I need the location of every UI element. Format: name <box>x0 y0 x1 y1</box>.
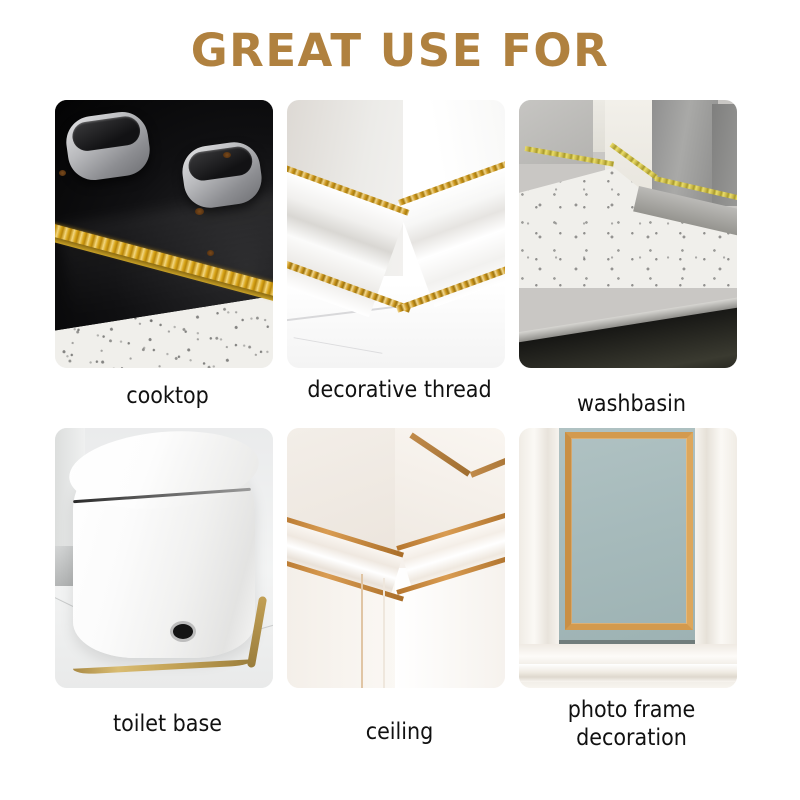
use-case-cell-decorative-thread[interactable]: decorative thread <box>287 100 512 418</box>
cooktop-photo <box>55 100 273 368</box>
spice-speck-1 <box>195 208 204 215</box>
use-case-cell-washbasin[interactable]: washbasin <box>519 100 744 418</box>
use-case-cell-toilet-base[interactable]: toilet base <box>55 428 280 752</box>
grid-row-1: cooktop decorative thread <box>55 100 745 418</box>
use-case-cell-cooktop[interactable]: cooktop <box>55 100 280 418</box>
grid-row-2: toilet base <box>55 428 745 752</box>
caption-toilet-base: toilet base <box>55 710 280 738</box>
photo-frame-photo <box>519 428 737 688</box>
frame-outer-right <box>695 428 737 664</box>
ceiling-photo <box>287 428 505 688</box>
spice-speck-3 <box>223 152 231 158</box>
spice-speck-2 <box>207 250 214 256</box>
caption-decorative-thread: decorative thread <box>287 376 512 404</box>
gold-inner-trim-highlight <box>571 438 687 624</box>
washbasin-photo <box>519 100 737 368</box>
frame-sill <box>519 664 737 682</box>
use-case-cell-ceiling[interactable]: ceiling <box>287 428 512 752</box>
use-case-grid: cooktop decorative thread <box>55 100 745 752</box>
frame-outer-left <box>519 428 559 664</box>
spice-speck-4 <box>59 170 66 176</box>
toilet-base-photo <box>55 428 273 688</box>
toilet-side-port <box>173 624 193 639</box>
page-title: GREAT USE FOR <box>0 24 800 77</box>
caption-photo-frame-decoration: photo frame decoration <box>519 696 744 752</box>
wall-panel-seam <box>383 578 385 688</box>
wall-corner-seam <box>361 574 363 688</box>
infographic-page: GREAT USE FOR cooktop <box>0 0 800 800</box>
use-case-cell-photo-frame-decoration[interactable]: photo frame decoration <box>519 428 744 752</box>
caption-washbasin: washbasin <box>519 390 744 418</box>
caption-ceiling: ceiling <box>287 718 512 746</box>
caption-cooktop: cooktop <box>55 382 280 410</box>
decorative-thread-photo <box>287 100 505 368</box>
